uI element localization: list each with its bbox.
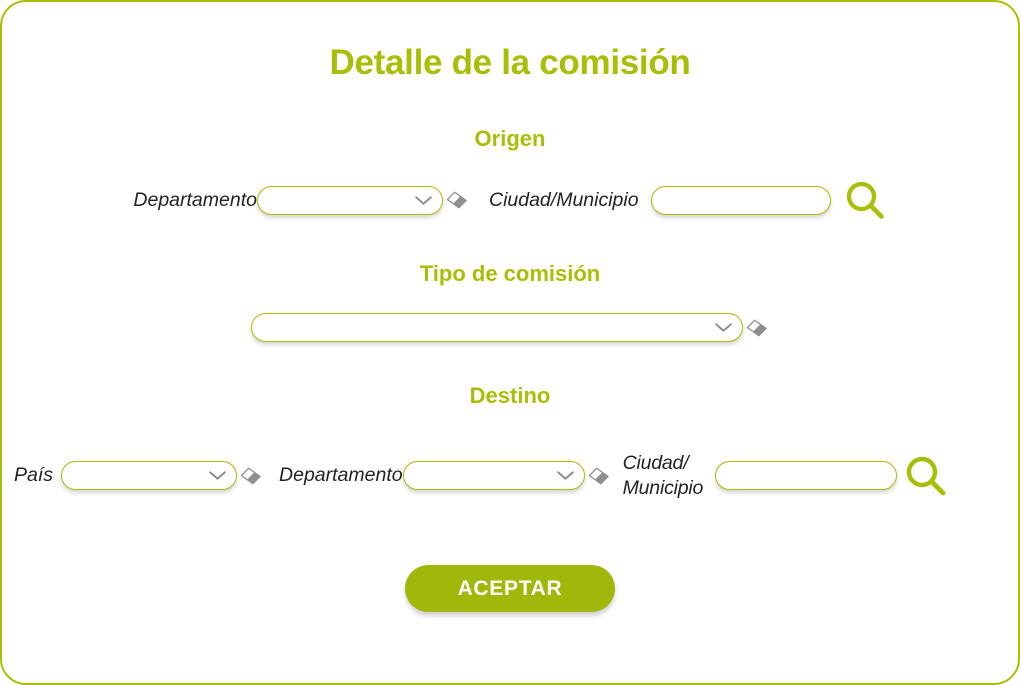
origen-departamento-select[interactable]: [257, 186, 443, 215]
chevron-down-icon: [556, 470, 575, 481]
eraser-icon[interactable]: [239, 465, 263, 487]
destino-pais-label: País: [14, 463, 53, 488]
origen-departamento-label: Departamento: [133, 188, 257, 213]
commission-detail-panel: Detalle de la comisión Origen Departamen…: [0, 0, 1020, 685]
destino-departamento-select[interactable]: [403, 461, 585, 490]
section-heading-tipo: Tipo de comisión: [2, 261, 1018, 287]
chevron-down-icon: [714, 322, 733, 333]
destino-pais-select[interactable]: [61, 461, 237, 490]
chevron-down-icon: [208, 470, 227, 481]
accept-button-container: ACEPTAR: [2, 565, 1018, 612]
section-heading-destino: Destino: [2, 383, 1018, 409]
accept-button[interactable]: ACEPTAR: [405, 565, 615, 612]
eraser-icon[interactable]: [445, 189, 469, 211]
destino-row: País Departamento Ciudad/ Municipio: [14, 451, 1010, 501]
chevron-down-icon: [414, 195, 433, 206]
search-icon[interactable]: [843, 178, 887, 222]
eraser-icon[interactable]: [745, 317, 769, 339]
page-title: Detalle de la comisión: [2, 43, 1018, 83]
tipo-row: [2, 313, 1018, 342]
eraser-icon[interactable]: [587, 465, 611, 487]
tipo-comision-select[interactable]: [251, 313, 743, 342]
destino-ciudad-input[interactable]: [715, 461, 897, 490]
search-icon[interactable]: [903, 453, 949, 499]
section-heading-origen: Origen: [2, 126, 1018, 152]
destino-ciudad-label: Ciudad/ Municipio: [623, 451, 704, 501]
destino-departamento-label: Departamento: [279, 463, 403, 488]
origen-ciudad-input[interactable]: [651, 186, 831, 215]
origen-row: Departamento Ciudad/Municipio: [2, 178, 1018, 222]
origen-ciudad-label: Ciudad/Municipio: [489, 188, 639, 213]
